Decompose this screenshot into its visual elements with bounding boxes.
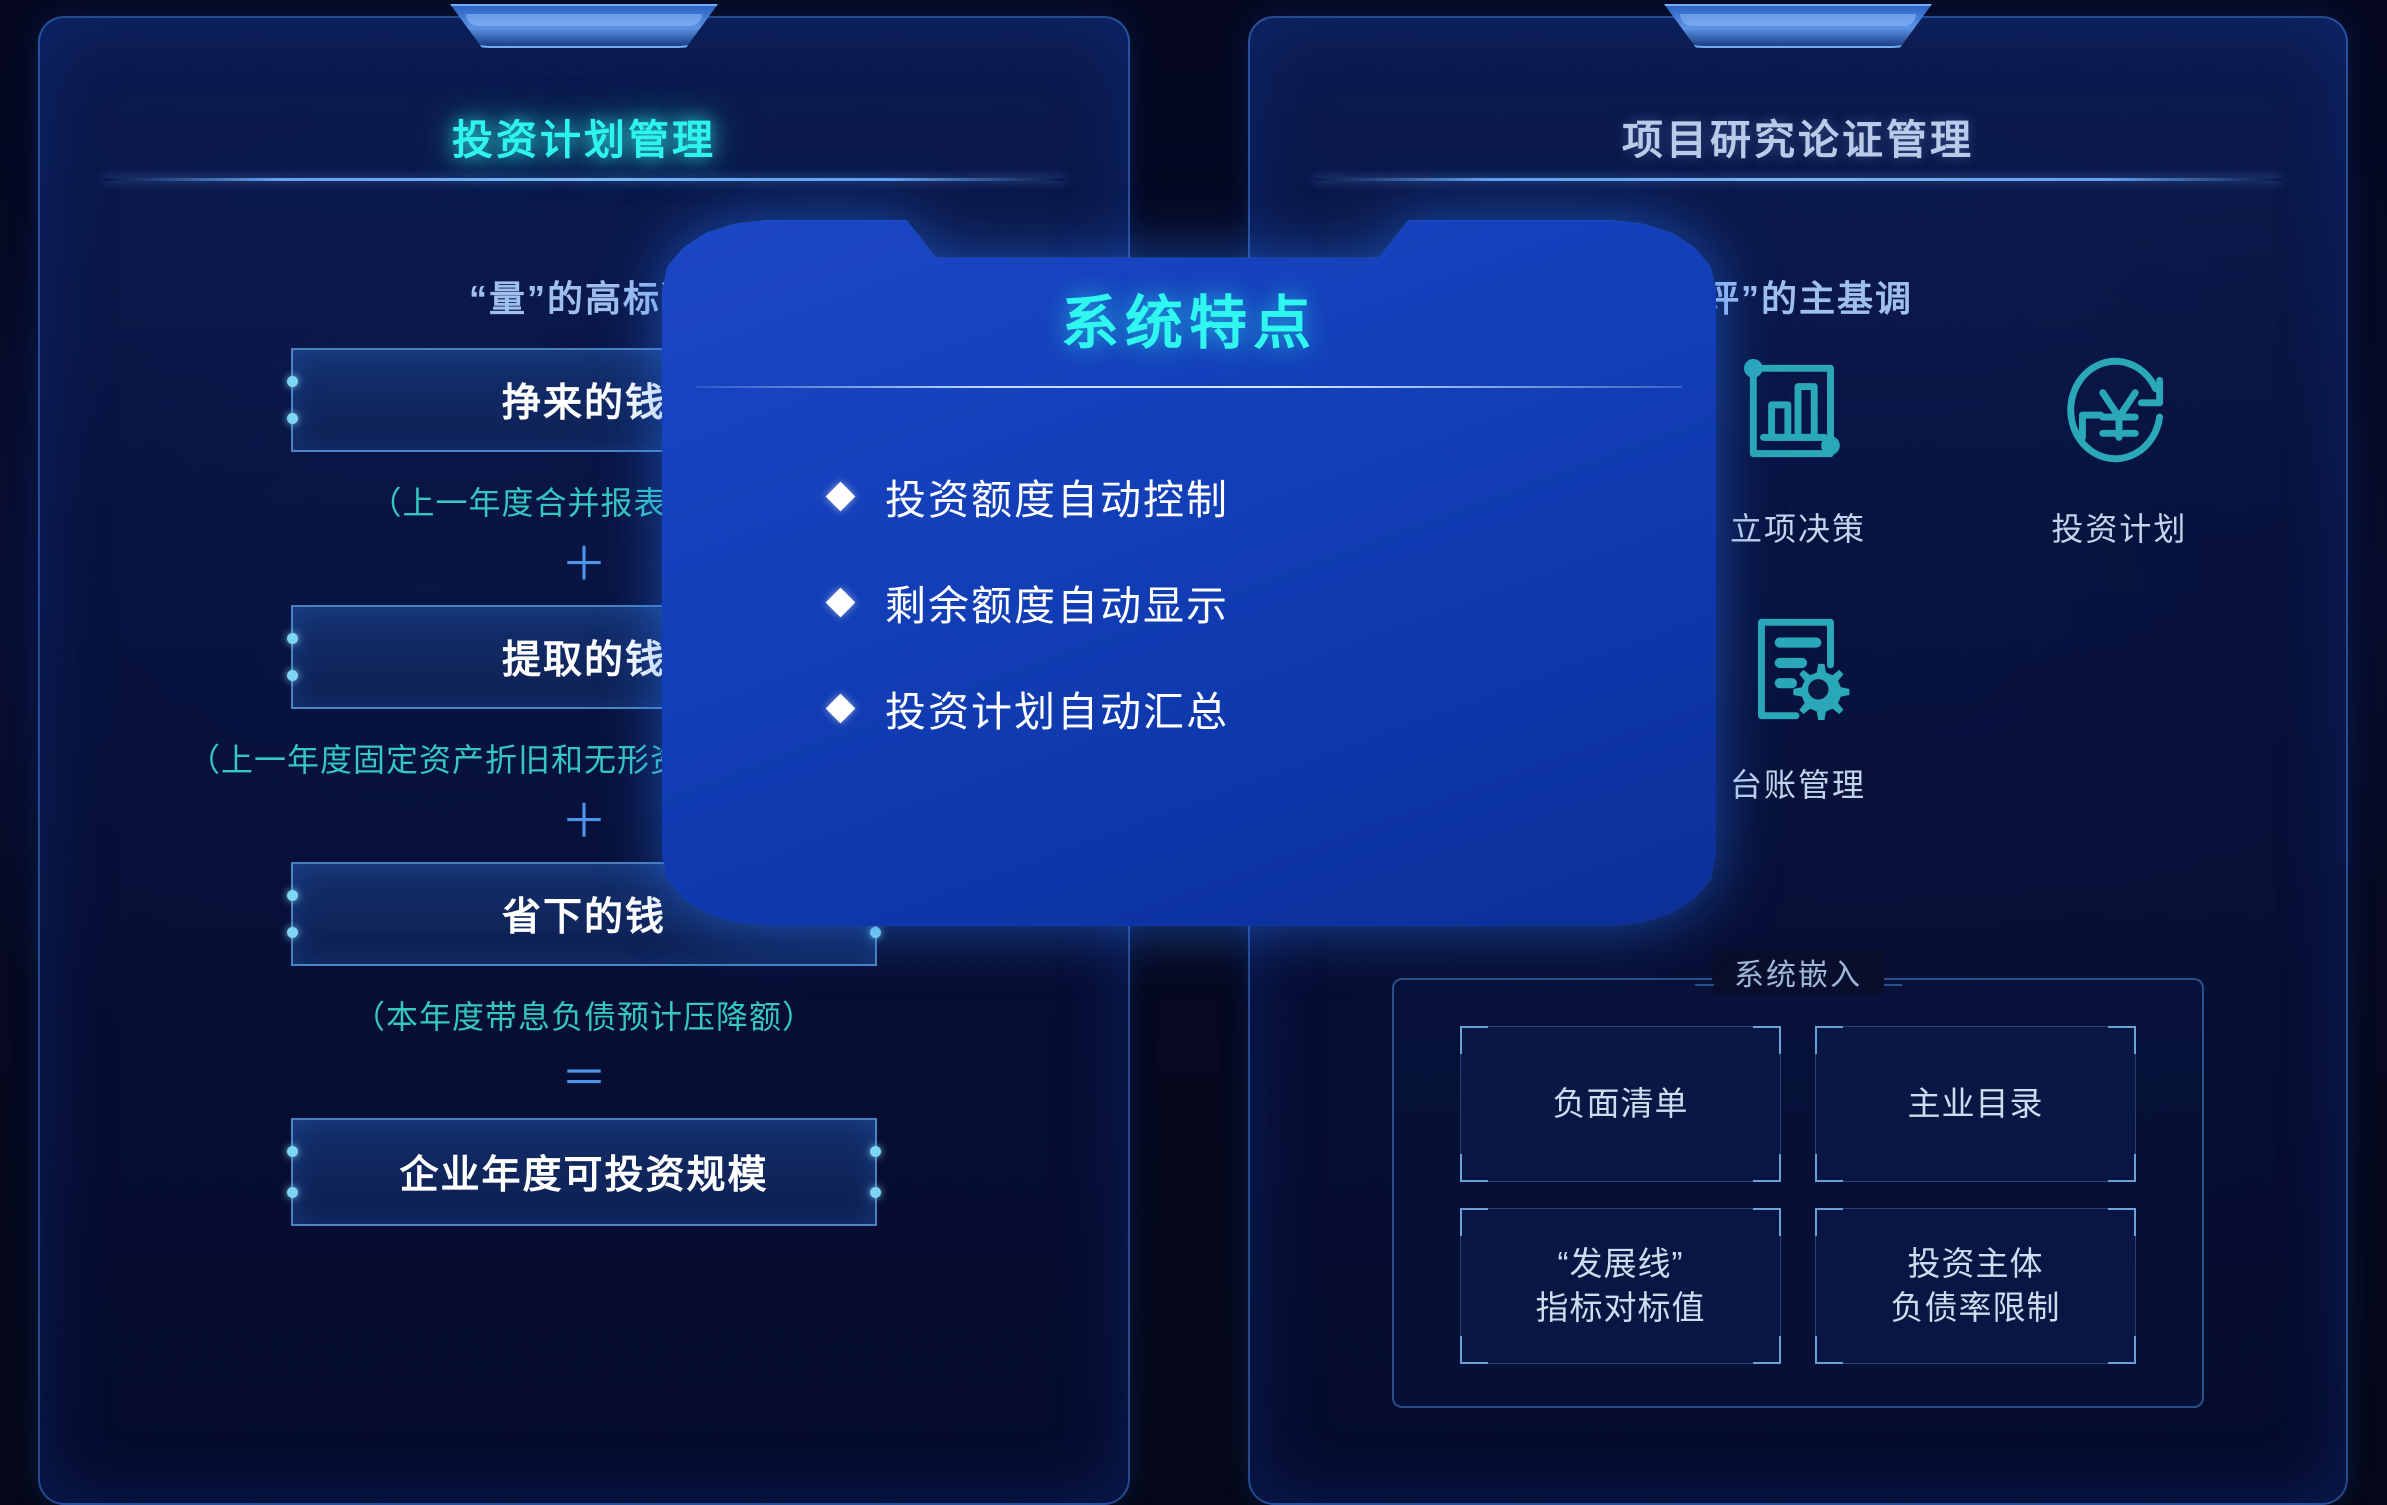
popup-title: 系统特点: [662, 276, 1716, 360]
popup-feature-label: 投资计划自动汇总: [885, 678, 1229, 738]
system-embed-legend: 系统嵌入: [1712, 950, 1884, 994]
embed-box-negative-list[interactable]: 负面清单: [1460, 1026, 1781, 1182]
infographic-stage: 投资计划管理 “量”的高标准 挣来的钱 （上一年度合并报表净利润） ＋ 提取的钱…: [0, 0, 2387, 1505]
connector-dot: [287, 1187, 298, 1198]
embed-box-label-line1: 投资主体: [1908, 1245, 2044, 1282]
connector-dot: [287, 927, 298, 938]
right-panel-divider: [1314, 178, 2282, 181]
embed-box-main-business-catalog[interactable]: 主业目录: [1815, 1026, 2136, 1182]
flow-operator-equals: ＝: [40, 1060, 1128, 1097]
flow-box-total-scale[interactable]: 企业年度可投资规模: [291, 1118, 877, 1226]
bar-chart-icon: [1733, 348, 1863, 478]
panel-notch-icon: [1664, 4, 1932, 48]
embed-box-label-line2: 指标对标值: [1536, 1289, 1706, 1326]
popup-feature-list: 投资额度自动控制 剩余额度自动显示 投资计划自动汇总: [830, 466, 1656, 784]
flow-box-label: 省下的钱: [502, 886, 666, 942]
module-label: 台账管理: [1730, 760, 1866, 806]
system-embed-grid: 负面清单 主业目录 “发展线” 指标对标值: [1460, 1026, 2136, 1364]
system-embed-group: 系统嵌入 负面清单 主业目录 “发展线” 指标对: [1392, 978, 2204, 1408]
popup-feature-label: 投资额度自动控制: [885, 466, 1229, 526]
connector-dot: [287, 413, 298, 424]
connector-dot: [870, 927, 881, 938]
embed-box-label-line2: 负债率限制: [1891, 1289, 2061, 1326]
connector-dot: [287, 890, 298, 901]
flow-caption-saved: （本年度带息负债预计压降额）: [40, 992, 1128, 1038]
module-label: 立项决策: [1730, 504, 1866, 550]
embed-box-investor-debt-limit[interactable]: 投资主体 负债率限制: [1815, 1208, 2136, 1364]
document-gear-icon: [1733, 604, 1863, 734]
embed-box-label: 主业目录: [1908, 1082, 2044, 1126]
diamond-bullet-icon: [826, 693, 856, 723]
yen-refresh-icon: [2054, 348, 2184, 478]
panel-notch-icon: [450, 4, 718, 48]
embed-box-label-line1: “发展线”: [1558, 1245, 1684, 1282]
diamond-bullet-icon: [826, 481, 856, 511]
flow-box-label: 企业年度可投资规模: [399, 1144, 768, 1200]
connector-dot: [287, 633, 298, 644]
system-features-popup[interactable]: 系统特点 投资额度自动控制 剩余额度自动显示 投资计划自动汇总: [662, 218, 1716, 928]
connector-dot: [287, 376, 298, 387]
right-panel-title: 项目研究论证管理: [1250, 106, 2346, 166]
popup-feature-item: 投资计划自动汇总: [830, 678, 1656, 738]
popup-feature-label: 剩余额度自动显示: [885, 572, 1229, 632]
connector-dot: [870, 1187, 881, 1198]
left-panel-title: 投资计划管理: [40, 106, 1128, 166]
popup-feature-item: 投资额度自动控制: [830, 466, 1656, 526]
connector-dot: [870, 1146, 881, 1157]
connector-dot: [287, 670, 298, 681]
left-panel-divider: [104, 178, 1064, 181]
flow-box-label: 提取的钱: [502, 629, 666, 685]
module-investment-plan[interactable]: 投资计划: [1959, 348, 2280, 550]
diamond-bullet-icon: [826, 587, 856, 617]
module-label: 投资计划: [2051, 504, 2187, 550]
popup-feature-item: 剩余额度自动显示: [830, 572, 1656, 632]
popup-divider: [696, 386, 1682, 388]
module-grid-spacer: [1959, 604, 2280, 806]
popup-content: 系统特点 投资额度自动控制 剩余额度自动显示 投资计划自动汇总: [662, 218, 1716, 928]
embed-box-development-line[interactable]: “发展线” 指标对标值: [1460, 1208, 1781, 1364]
embed-box-label: 负面清单: [1553, 1082, 1689, 1126]
flow-box-label: 挣来的钱: [502, 372, 666, 428]
connector-dot: [287, 1146, 298, 1157]
